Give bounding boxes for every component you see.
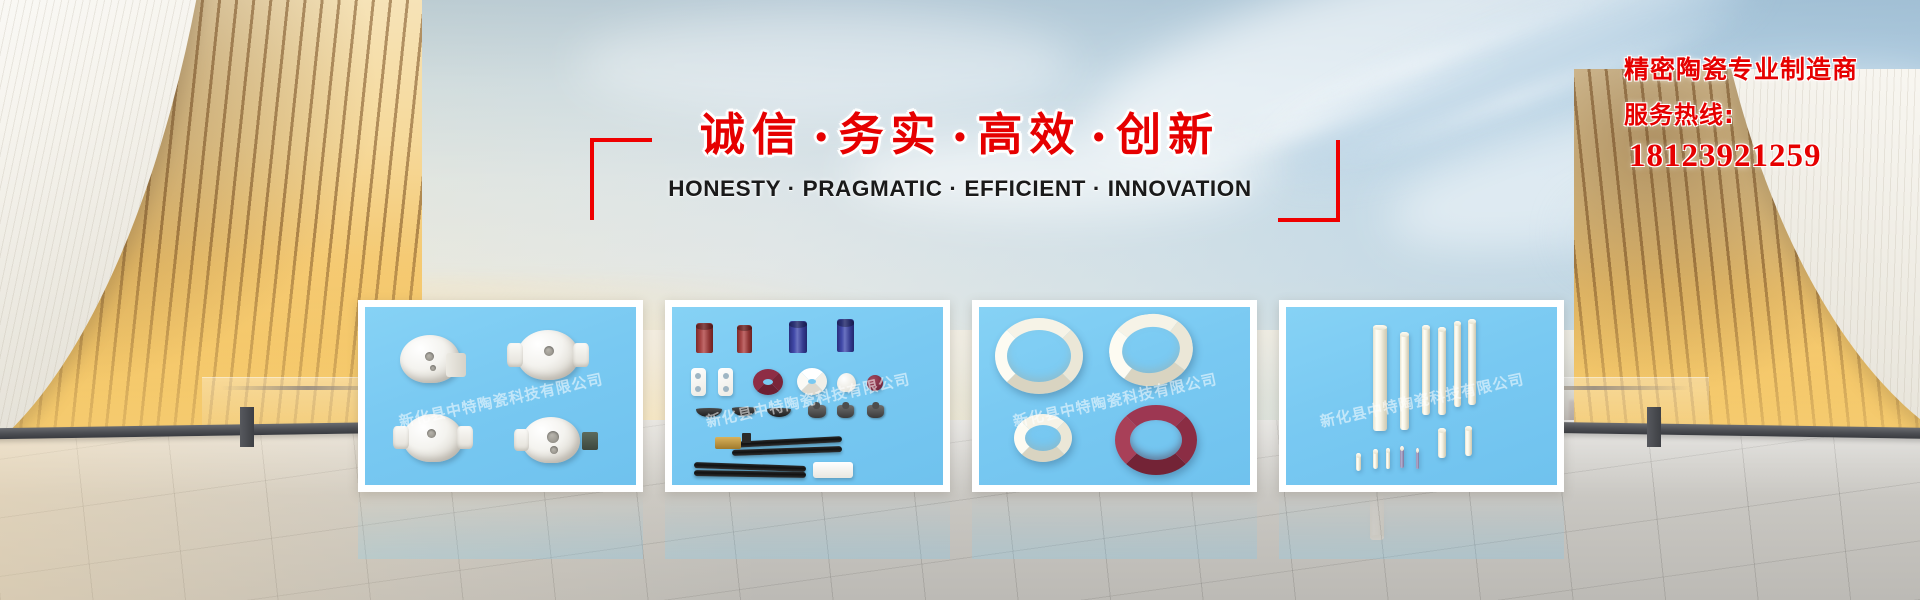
slogan-word: 诚信: [700, 108, 804, 161]
slogan-word: 务实: [839, 108, 943, 161]
panel-photo: 新化县中特陶瓷科技有限公司: [1286, 307, 1557, 485]
panel-photo: 新化县中特陶瓷科技有限公司: [979, 307, 1250, 485]
panel-reflection: [1279, 493, 1564, 559]
hotline-number[interactable]: 18123921259: [1629, 140, 1858, 173]
product-panel-strip: 新化县中特陶瓷科技有限公司: [358, 300, 1564, 559]
handrail-post-left: [240, 407, 254, 447]
handrail-post-right: [1647, 407, 1661, 447]
panel-reflection: [665, 493, 950, 559]
product-panel-ceramic-terminals[interactable]: 新化县中特陶瓷科技有限公司: [665, 300, 950, 492]
separator-dot: •: [804, 124, 839, 154]
slogan-word: 创新: [1116, 108, 1220, 161]
slogan-chinese: 诚信 • 务实 • 高效 • 创新: [578, 112, 1342, 157]
separator-dot: •: [1081, 124, 1116, 154]
product-panel-wrap: 新化县中特陶瓷科技有限公司: [358, 300, 643, 559]
contact-block: 精密陶瓷专业制造商 服务热线: 18123921259: [1624, 57, 1858, 173]
promotional-banner: 诚信 • 务实 • 高效 • 创新 HONESTY · PRAGMATIC · …: [0, 0, 1920, 600]
product-panel-wrap: 新化县中特陶瓷科技有限公司: [665, 300, 950, 559]
product-panel-ceramic-lamp-holders[interactable]: 新化县中特陶瓷科技有限公司: [358, 300, 643, 492]
product-panel-ceramic-rods[interactable]: 新化县中特陶瓷科技有限公司: [1279, 300, 1564, 492]
headline-block: 诚信 • 务实 • 高效 • 创新 HONESTY · PRAGMATIC · …: [578, 112, 1342, 201]
product-panel-wrap: 新化县中特陶瓷科技有限公司: [1279, 300, 1564, 559]
panel-photo: 新化县中特陶瓷科技有限公司: [672, 307, 943, 485]
panel-photo: 新化县中特陶瓷科技有限公司: [365, 307, 636, 485]
product-panel-wrap: 新化县中特陶瓷科技有限公司: [972, 300, 1257, 559]
slogan-word: 高效: [977, 108, 1081, 161]
cloud: [576, 12, 1075, 120]
slogan-english: HONESTY · PRAGMATIC · EFFICIENT · INNOVA…: [578, 178, 1342, 201]
panel-reflection: [972, 493, 1257, 559]
company-tagline: 精密陶瓷专业制造商: [1624, 57, 1858, 82]
separator-dot: •: [943, 124, 978, 154]
hotline-label: 服务热线:: [1624, 103, 1858, 127]
panel-reflection: [358, 493, 643, 559]
product-panel-ceramic-rings[interactable]: 新化县中特陶瓷科技有限公司: [972, 300, 1257, 492]
